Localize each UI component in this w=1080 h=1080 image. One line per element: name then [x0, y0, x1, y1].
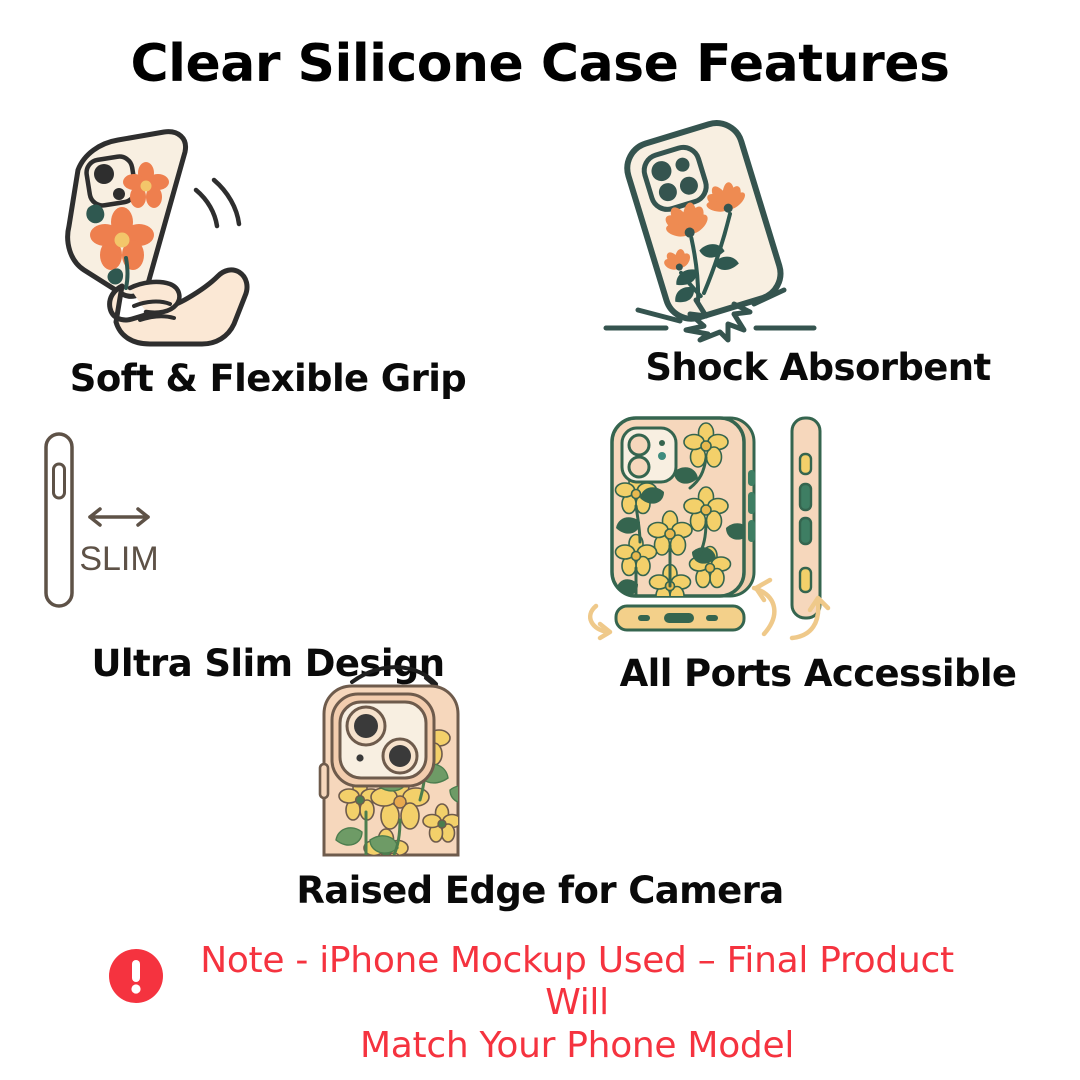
feature-label: Soft & Flexible Grip [18, 357, 518, 400]
phone-side-profile-icon: SLIM [18, 420, 518, 620]
feature-soft-flexible-grip: Soft & Flexible Grip [18, 118, 518, 400]
phone-ports-cutouts-icon [578, 410, 1058, 642]
feature-raised-edge-for-camera: Raised Edge for Camera [290, 660, 790, 912]
feature-all-ports-accessible: All Ports Accessible [578, 410, 1058, 695]
hand-holding-flexing-phone-icon [18, 118, 518, 343]
feature-ultra-slim-design: SLIM Ultra Slim Design [18, 420, 518, 685]
phone-bottom-edge [616, 606, 744, 630]
exclamation-circle-icon [108, 948, 164, 1004]
feature-shock-absorbent: Shock Absorbent [578, 118, 1058, 389]
phone-impact-burst-icon [578, 118, 1058, 340]
note-line-2: Match Your Phone Model [182, 1025, 972, 1067]
feature-label: Raised Edge for Camera [290, 869, 790, 912]
phone-side-rail [792, 418, 820, 618]
feature-label: Shock Absorbent [578, 346, 1058, 389]
note-text: Note - iPhone Mockup Used – Final Produc… [182, 940, 972, 1067]
page-title: Clear Silicone Case Features [0, 34, 1080, 94]
infographic-page: Clear Silicone Case Features [0, 0, 1080, 1080]
mockup-note: Note - iPhone Mockup Used – Final Produc… [0, 940, 1080, 1067]
slim-caption: SLIM [79, 540, 158, 578]
note-line-1: Note - iPhone Mockup Used – Final Produc… [200, 940, 954, 1023]
phone-raised-camera-bump-icon [290, 660, 790, 855]
